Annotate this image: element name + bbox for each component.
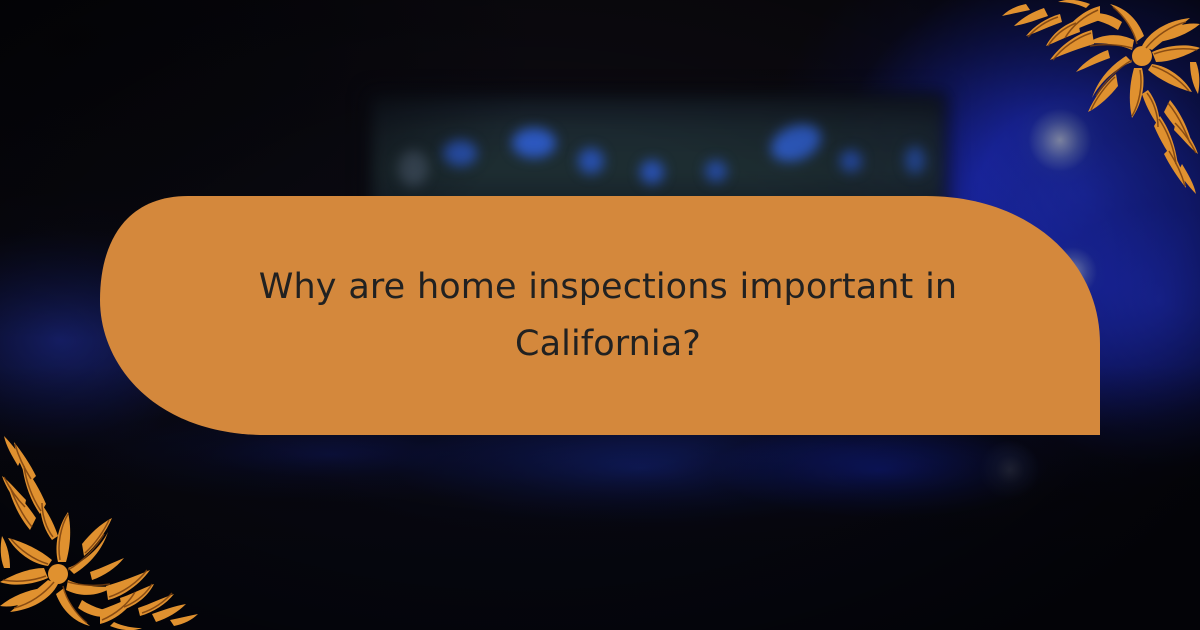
screen-blob (398, 150, 428, 186)
screen-blob (512, 128, 556, 158)
screen-blob (905, 146, 925, 174)
screen-blob (705, 160, 727, 182)
screen-blob (840, 150, 862, 172)
headline-container: Why are home inspections important in Ca… (96, 196, 1100, 435)
page-title: Why are home inspections important in Ca… (236, 259, 980, 372)
floral-corner-ornament-icon (0, 430, 200, 630)
screen-blob (578, 148, 604, 174)
floral-corner-ornament-icon (1000, 0, 1200, 200)
title-card: Why are home inspections important in Ca… (0, 0, 1200, 630)
screen-blob (640, 160, 664, 184)
screen-blob (443, 140, 477, 166)
